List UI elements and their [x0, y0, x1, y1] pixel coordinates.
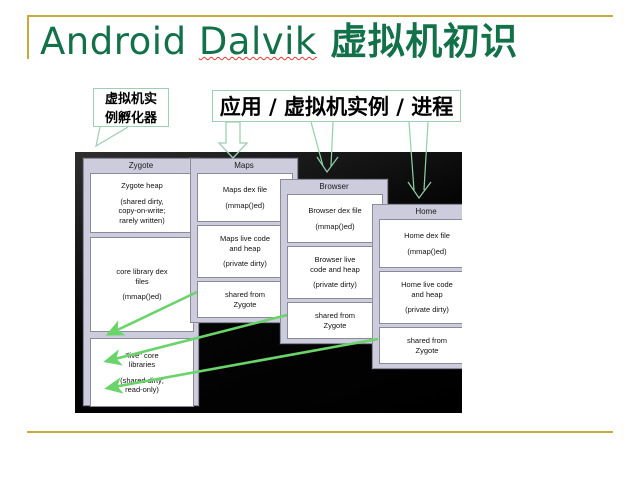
callout-app-vm-process: 应用 / 虚拟机实例 / 进程	[212, 90, 461, 122]
title-part-android: Android	[40, 20, 199, 63]
callout-left-tail	[96, 127, 128, 146]
title-left-accent-rule	[27, 15, 29, 59]
arrow-home-to-zygote	[108, 339, 378, 388]
slide-canvas: Android Dalvik 虚拟机初识 虚拟机实 例孵化器 应用 / 虚拟机实…	[0, 0, 640, 480]
title-part-chinese: 虚拟机初识	[317, 20, 518, 63]
arrow-maps-to-zygote	[109, 292, 197, 334]
callout-vm-incubator-line2: 例孵化器	[94, 109, 168, 128]
callout-vm-incubator-line1: 虚拟机实	[94, 90, 168, 109]
callout-vm-incubator: 虚拟机实 例孵化器	[93, 88, 169, 127]
title-part-dalvik: Dalvik	[199, 20, 317, 63]
dalvik-memory-diagram: Zygote Zygote heap (shared dirty, copy-o…	[75, 152, 462, 413]
bottom-horizontal-rule	[27, 431, 613, 433]
sharing-arrows-group	[75, 152, 462, 413]
page-title: Android Dalvik 虚拟机初识	[40, 17, 600, 67]
